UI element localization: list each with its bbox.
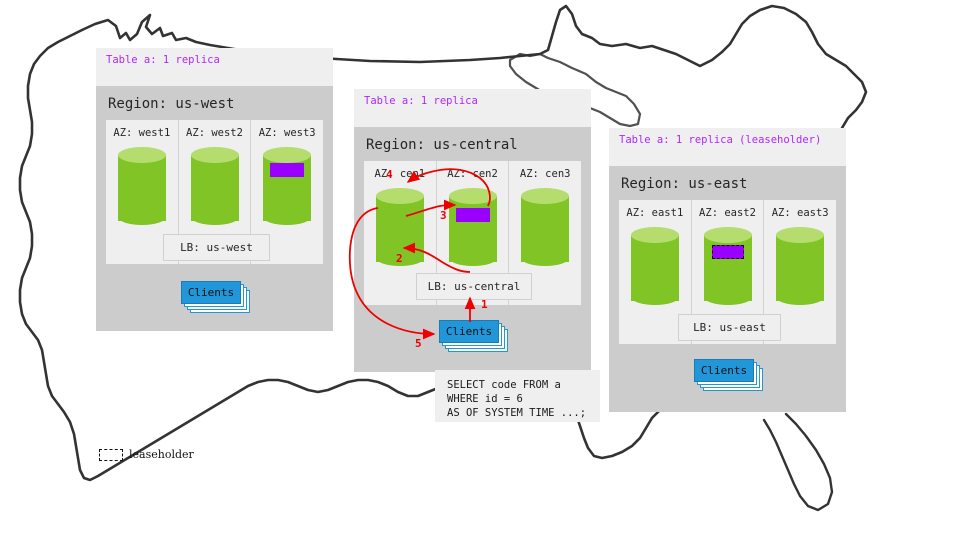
- cylinder-bottom: [776, 289, 824, 305]
- dashed-rectangle-icon: [99, 449, 123, 461]
- region-panel-us-west: Table a: 1 replica Region: us-west AZ: w…: [96, 48, 333, 331]
- legend-leaseholder: leaseholder: [99, 448, 194, 461]
- cylinder-bottom: [631, 289, 679, 305]
- az-label: AZ: west3: [259, 120, 316, 139]
- az-label: AZ: east2: [699, 200, 756, 219]
- node-cylinder-east1[interactable]: [631, 227, 679, 309]
- replica-block-west3[interactable]: [270, 163, 304, 177]
- cylinder-top: [631, 227, 679, 243]
- az-label: AZ: east3: [772, 200, 829, 219]
- florida-path: [764, 414, 832, 510]
- clients-stack-us-central[interactable]: Clients: [439, 320, 509, 353]
- region-panel-title-bar-us-west: Table a: 1 replica: [96, 48, 333, 86]
- region-replica-title: Table a: 1 replica: [106, 54, 323, 66]
- flow-step-number-4: 4: [386, 168, 393, 181]
- az-label: AZ: cen3: [520, 161, 571, 180]
- node-cylinder-east3[interactable]: [776, 227, 824, 309]
- flow-step-number-3: 3: [440, 209, 447, 222]
- clients-box-us-central[interactable]: Clients: [439, 320, 499, 343]
- replica-block-east2-leaseholder[interactable]: [712, 245, 744, 259]
- clients-stack-us-west[interactable]: Clients: [181, 281, 251, 314]
- load-balancer-us-central[interactable]: LB: us-central: [416, 273, 532, 300]
- lb-label: LB: us-west: [180, 241, 253, 254]
- lb-label: LB: us-east: [693, 321, 766, 334]
- cylinder-bottom: [449, 250, 497, 266]
- region-replica-title: Table a: 1 replica (leaseholder): [619, 134, 836, 146]
- region-panel-us-central: Table a: 1 replica Region: us-central AZ…: [354, 89, 591, 372]
- cylinder-top: [263, 147, 311, 163]
- clients-label: Clients: [188, 286, 234, 299]
- flow-step-number-1: 1: [481, 298, 488, 311]
- cylinder-bottom: [191, 209, 239, 225]
- flow-step-number-5: 5: [415, 337, 422, 350]
- clients-label: Clients: [446, 325, 492, 338]
- load-balancer-us-west[interactable]: LB: us-west: [163, 234, 270, 261]
- az-label: AZ: east1: [626, 200, 683, 219]
- cylinder-top: [191, 147, 239, 163]
- node-cylinder-cen3[interactable]: [521, 188, 569, 270]
- load-balancer-us-east[interactable]: LB: us-east: [678, 314, 781, 341]
- region-panel-title-bar-us-central: Table a: 1 replica: [354, 89, 591, 127]
- cylinder-top: [521, 188, 569, 204]
- cylinder-bottom: [118, 209, 166, 225]
- replica-block-cen2[interactable]: [456, 208, 490, 222]
- clients-box-us-west[interactable]: Clients: [181, 281, 241, 304]
- clients-box-us-east[interactable]: Clients: [694, 359, 754, 382]
- az-label: AZ: cen1: [375, 161, 426, 180]
- cylinder-bottom: [521, 250, 569, 266]
- cylinder-top: [376, 188, 424, 204]
- legend-label: leaseholder: [129, 448, 194, 461]
- region-name-label: Region: us-central: [354, 127, 591, 161]
- region-panel-us-east: Table a: 1 replica (leaseholder) Region:…: [609, 128, 846, 412]
- clients-label: Clients: [701, 364, 747, 377]
- cylinder-top: [704, 227, 752, 243]
- flow-step-number-2: 2: [396, 252, 403, 265]
- node-cylinder-west1[interactable]: [118, 147, 166, 229]
- region-replica-title: Table a: 1 replica: [364, 95, 581, 107]
- node-cylinder-west2[interactable]: [191, 147, 239, 229]
- sql-query-box: SELECT code FROM a WHERE id = 6 AS OF SY…: [435, 370, 600, 422]
- az-label: AZ: west1: [113, 120, 170, 139]
- node-cylinder-cen2[interactable]: [449, 188, 497, 270]
- az-label: AZ: west2: [186, 120, 243, 139]
- cylinder-top: [776, 227, 824, 243]
- region-name-label: Region: us-east: [609, 166, 846, 200]
- node-cylinder-west3[interactable]: [263, 147, 311, 229]
- cylinder-bottom: [263, 209, 311, 225]
- node-cylinder-east2[interactable]: [704, 227, 752, 309]
- cylinder-bottom: [704, 289, 752, 305]
- az-label: AZ: cen2: [447, 161, 498, 180]
- region-panel-title-bar-us-east: Table a: 1 replica (leaseholder): [609, 128, 846, 166]
- lb-label: LB: us-central: [428, 280, 521, 293]
- clients-stack-us-east[interactable]: Clients: [694, 359, 764, 392]
- region-name-label: Region: us-west: [96, 86, 333, 120]
- cylinder-top: [118, 147, 166, 163]
- cylinder-top: [449, 188, 497, 204]
